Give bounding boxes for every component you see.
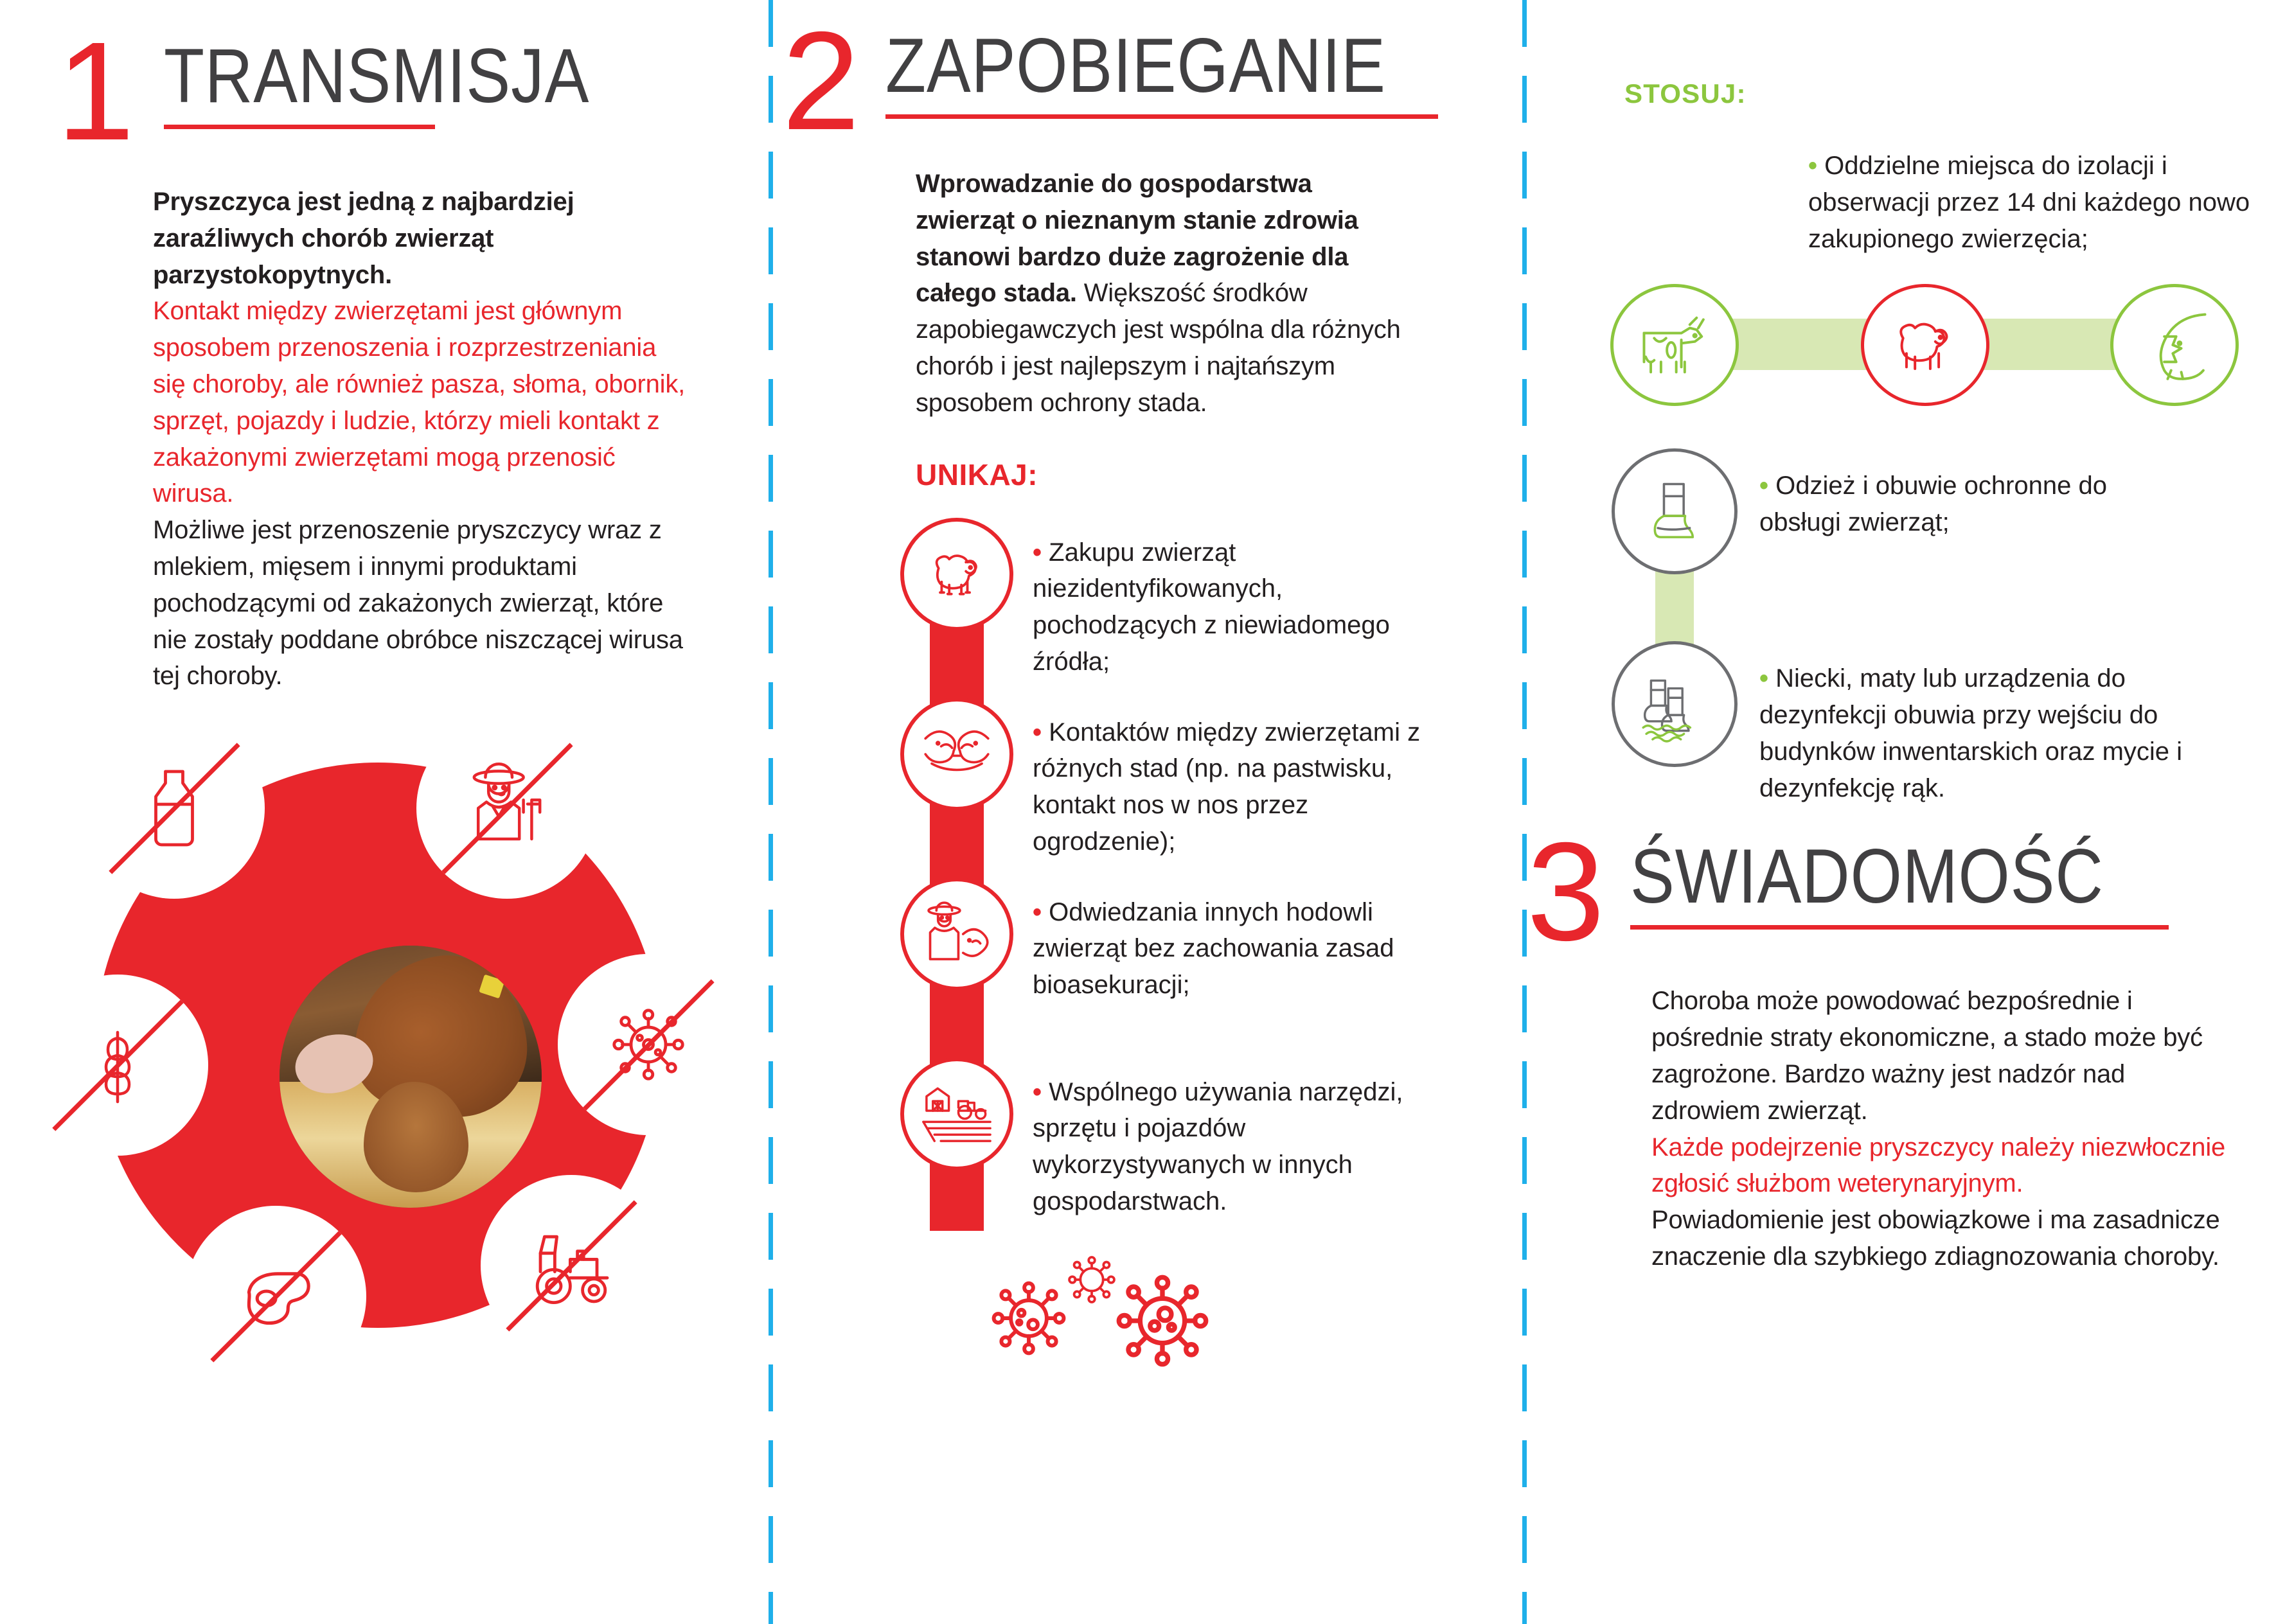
list-item: • Zakupu zwierząt niezidentyfikowanych, … — [900, 518, 1511, 698]
section-2-heading: 2 ZAPOBIEGANIE — [782, 27, 1522, 136]
paragraph-normal: Choroba może powodować bezpośrednie i po… — [1651, 983, 2230, 1129]
farm-with-tractor-icon — [900, 1057, 1013, 1170]
sheep-icon — [1861, 284, 1989, 406]
section-2-title: ZAPOBIEGANIE — [885, 27, 1386, 104]
paragraph-bold: Pryszczyca jest jedną z najbardziej zara… — [153, 184, 686, 293]
section-3-body: Choroba może powodować bezpośrednie i po… — [1651, 983, 2230, 1275]
list-item-text: Niecki, maty lub urządzenia do dezynfekc… — [1759, 664, 2182, 802]
paragraph-normal: Możliwe jest przenoszenie pryszczycy wra… — [153, 512, 686, 694]
list-item-text: Zakupu zwierząt niezidentyfikowanych, po… — [1033, 538, 1390, 676]
cow-and-calf-photo — [280, 946, 542, 1208]
animal-species-row — [1610, 284, 2240, 406]
column-stosuj-swiadomosc: STOSUJ: • Oddzielne miejsca do izolacji … — [1527, 0, 2285, 1275]
column-zapobieganie: 2 ZAPOBIEGANIE Wprowadzanie do gospodars… — [773, 0, 1522, 1375]
use-label: STOSUJ: — [1624, 78, 2285, 109]
section-2-underline — [885, 114, 1438, 119]
column-transmisja: 1 TRANSMISJA Pryszczyca jest jedną z naj… — [0, 0, 769, 1360]
list-item: • Wspólnego używania narzędzi, sprzętu i… — [900, 1057, 1511, 1237]
section-1-title: TRANSMISJA — [164, 37, 589, 114]
section-2-number: 2 — [782, 27, 858, 136]
avoid-label: UNIKAJ: — [916, 457, 1522, 492]
column-divider-1 — [769, 0, 773, 1624]
section-2-intro: Wprowadzanie do gospodarstwa zwierząt o … — [916, 166, 1410, 421]
paragraph-normal-2: Powiadomienie jest obowiązkowe i ma zasa… — [1651, 1202, 2230, 1275]
sheep-icon — [900, 518, 1013, 631]
list-item-text: Wspólnego używania narzędzi, sprzętu i p… — [1033, 1078, 1403, 1215]
section-1-body: Pryszczyca jest jedną z najbardziej zara… — [153, 184, 686, 694]
list-item: • Niecki, maty lub urządzenia do dezynfe… — [1612, 641, 2273, 834]
section-1-number: 1 — [57, 37, 133, 146]
virus-icon — [558, 954, 739, 1135]
avoid-list: • Zakupu zwierząt niezidentyfikowanych, … — [900, 518, 1511, 1237]
list-item: • Odzież i obuwie ochronne do obsługi zw… — [1612, 448, 2273, 641]
list-item: • Kontaktów między zwierzętami z różnych… — [900, 698, 1511, 878]
protective-measures-list: • Odzież i obuwie ochronne do obsługi zw… — [1612, 448, 2273, 834]
protective-boot-icon — [1612, 448, 1738, 574]
farmer-icon — [416, 718, 598, 899]
use-first-bullet-text: Oddzielne miejsca do izolacji i obserwac… — [1808, 152, 2250, 253]
farmer-with-animal-icon — [900, 878, 1013, 991]
paragraph-red: Kontakt między zwierzętami jest głównym … — [153, 293, 686, 512]
section-1-underline — [164, 125, 435, 129]
boots-in-disinfectant-icon — [1612, 641, 1738, 767]
paragraph-red: Każde podejrzenie pryszczycy należy niez… — [1651, 1129, 2230, 1203]
section-3-heading: 3 ŚWIADOMOŚĆ — [1527, 838, 2285, 947]
section-3-number: 3 — [1527, 838, 1603, 947]
grain-icon — [27, 975, 208, 1156]
meat-icon — [185, 1206, 366, 1387]
infographic-page: 1 TRANSMISJA Pryszczyca jest jedną z naj… — [0, 0, 2285, 1624]
cow-icon — [1610, 284, 1739, 406]
pig-head-icon — [2110, 284, 2239, 406]
virus-cluster-icon — [980, 1244, 1522, 1375]
column-divider-2 — [1522, 0, 1527, 1624]
transmission-circle-cluster — [84, 718, 739, 1360]
list-item-text: Odwiedzania innych hodowli zwierząt bez … — [1033, 898, 1394, 1000]
list-item-text: Odzież i obuwie ochronne do obsługi zwie… — [1759, 472, 2107, 536]
milk-bottle-icon — [84, 718, 265, 899]
nose-to-nose-contact-icon — [900, 698, 1013, 811]
tractor-icon — [481, 1175, 662, 1356]
section-1-heading: 1 TRANSMISJA — [57, 37, 769, 146]
use-first-bullet: • Oddzielne miejsca do izolacji i obserw… — [1808, 148, 2258, 257]
list-item: • Odwiedzania innych hodowli zwierząt be… — [900, 878, 1511, 1057]
section-3-title: ŚWIADOMOŚĆ — [1630, 838, 2104, 915]
list-item-text: Kontaktów między zwierzętami z różnych s… — [1033, 718, 1420, 856]
section-3-underline — [1630, 925, 2169, 930]
